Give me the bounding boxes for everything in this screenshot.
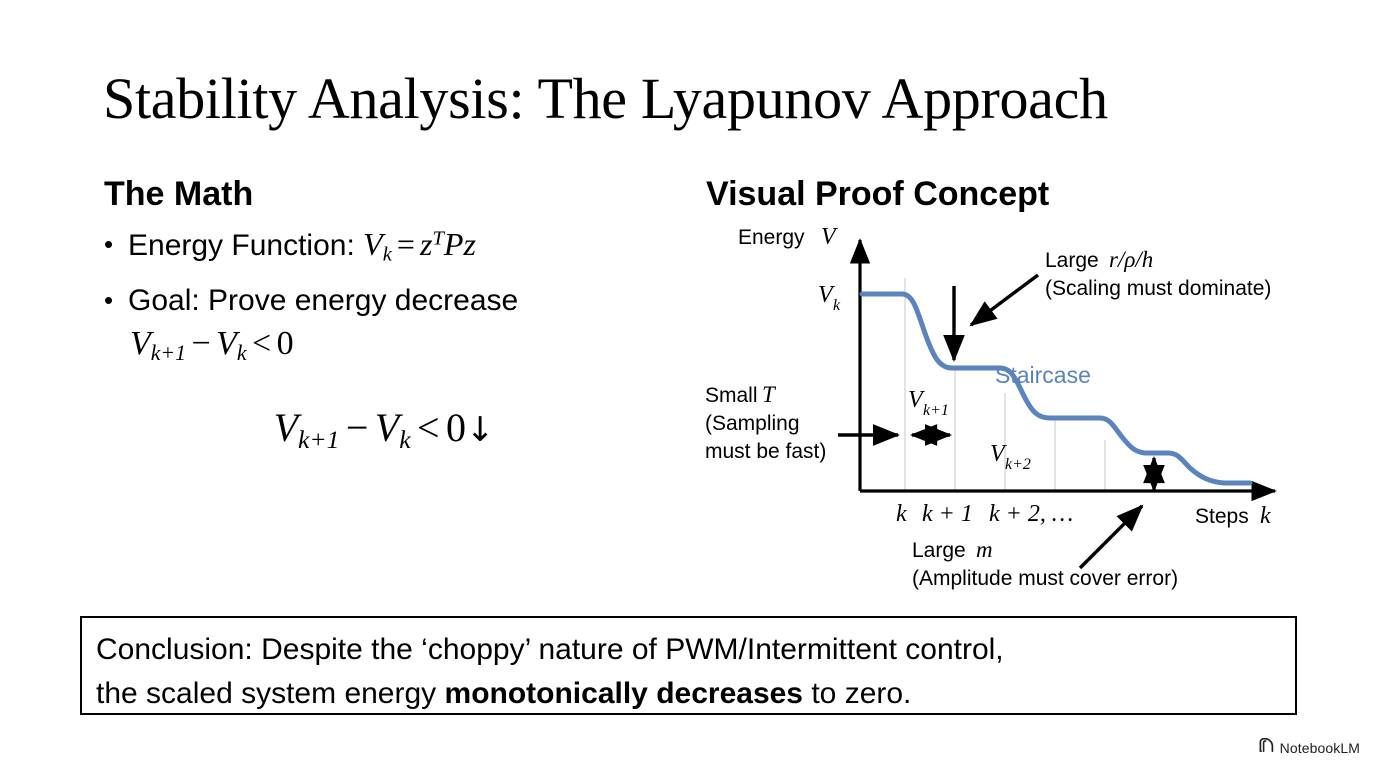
annotation-large-m-prefix: Large (912, 539, 966, 562)
eq-relation-less-than: < (247, 325, 277, 362)
eq-sub-k: k (399, 425, 410, 454)
level-label-vk2: V k+2 (990, 441, 1031, 473)
x-tick-label-k: k (896, 501, 907, 527)
eq-var-V1: V (130, 325, 151, 362)
eq-var-V2: V (216, 325, 237, 362)
bullet-label-energy-function: Energy Function: (128, 229, 355, 262)
equation-energy-function: Vk=zTPz (363, 226, 476, 262)
eq-minus: − (339, 405, 374, 450)
conclusion-box: Conclusion: Despite the ‘choppy’ nature … (80, 616, 1297, 715)
annotation-large-r-symbol: r/ρ/h (1109, 247, 1153, 272)
level-label-vk2-sub: k+2 (1005, 456, 1031, 473)
list-item-body: Goal: Prove energy decrease Vk+1−Vk<0 (128, 280, 664, 364)
section-heading-visual-proof-concept: Visual Proof Concept (706, 174, 1049, 214)
lyapunov-staircase-diagram: Energy V V k V k+1 V k+2 Staircase Large… (690, 218, 1310, 598)
y-axis-label-symbol: V (821, 224, 838, 250)
annotation-small-t: Small T (Sampling must be fast) (705, 382, 826, 463)
y-axis-label-text: Energy (738, 226, 805, 249)
x-axis-label-text: Steps (1195, 505, 1249, 528)
annotation-large-r-subtitle: (Scaling must dominate) (1045, 277, 1271, 300)
eq-relation-equals: = (392, 226, 420, 262)
annotation-small-t-line3: must be fast) (705, 440, 826, 463)
page-title: Stability Analysis: The Lyapunov Approac… (103, 65, 1283, 133)
section-heading-the-math: The Math (104, 174, 253, 214)
x-axis-tick-labels: k k + 1 k + 2, … (896, 501, 1073, 527)
bullet-label-goal: Goal: Prove energy decrease (128, 284, 518, 317)
level-label-vk1-sub: k+1 (923, 402, 949, 419)
list-item-body: Energy Function: Vk=zTPz (128, 224, 664, 266)
level-label-vk1: V k+1 (908, 387, 949, 419)
equation-centered-energy-decrease: Vk+1−Vk<0↓ (104, 404, 664, 451)
conclusion-emphasis: monotonically decreases (445, 677, 803, 710)
annotation-large-r-rho-h: Large r/ρ/h (Scaling must dominate) (1045, 247, 1271, 300)
eq-minus: − (186, 325, 216, 362)
conclusion-line-1: Conclusion: Despite the ‘choppy’ nature … (96, 633, 1004, 666)
bullet-marker-icon: • (104, 280, 128, 321)
conclusion-line-2-after: to zero. (803, 677, 911, 710)
notebooklm-icon (1258, 738, 1275, 758)
annotation-large-m-subtitle: (Amplitude must cover error) (912, 567, 1178, 590)
curve-legend-label: Staircase (995, 362, 1091, 388)
eq-var-V: V (363, 226, 383, 262)
annotation-small-t-line2: (Sampling (705, 412, 800, 435)
equation-energy-decrease: Vk+1−Vk<0 (130, 323, 664, 364)
eq-value-zero: 0 (277, 325, 294, 362)
notebooklm-label: NotebookLM (1280, 740, 1360, 756)
eq-sub-k-plus-1: k+1 (298, 425, 339, 454)
annotation-small-t-symbol: T (762, 382, 777, 407)
annotation-large-m-symbol: m (976, 537, 993, 562)
conclusion-line-2-before: the scaled system energy (96, 677, 445, 710)
eq-sub-k: k (237, 341, 247, 365)
bullet-marker-icon: • (104, 224, 128, 265)
annotation-large-r-prefix: Large (1045, 249, 1099, 272)
list-item: • Goal: Prove energy decrease Vk+1−Vk<0 (104, 280, 664, 364)
conclusion-text: Conclusion: Despite the ‘choppy’ nature … (96, 628, 1281, 716)
eq-sub-k: k (383, 244, 392, 266)
x-tick-label-k-plus-2: k + 2, … (989, 501, 1073, 527)
eq-value-zero: 0 (446, 405, 466, 450)
x-tick-label-k-plus-1: k + 1 (922, 501, 973, 527)
level-label-vk: V k (818, 282, 841, 314)
annotation-large-m: Large m (Amplitude must cover error) (912, 537, 1178, 590)
annotation-small-t-prefix: Small (705, 384, 758, 407)
eq-relation-less-than: < (411, 405, 446, 450)
x-axis-label-symbol: k (1260, 503, 1271, 529)
level-label-vk-sub: k (833, 297, 841, 314)
annotation-arrow-diagonal-large-m (1080, 506, 1142, 568)
eq-var-V1: V (274, 405, 298, 450)
bullet-list: • Energy Function: Vk=zTPz • Goal: Prove… (104, 224, 664, 378)
eq-sub-k-plus-1: k+1 (151, 341, 186, 365)
eq-var-V2: V (375, 405, 399, 450)
arrow-down-icon: ↓ (466, 410, 495, 450)
list-item: • Energy Function: Vk=zTPz (104, 224, 664, 266)
notebooklm-watermark: NotebookLM (1258, 738, 1360, 758)
annotation-arrow-diagonal-large-r (971, 275, 1038, 325)
